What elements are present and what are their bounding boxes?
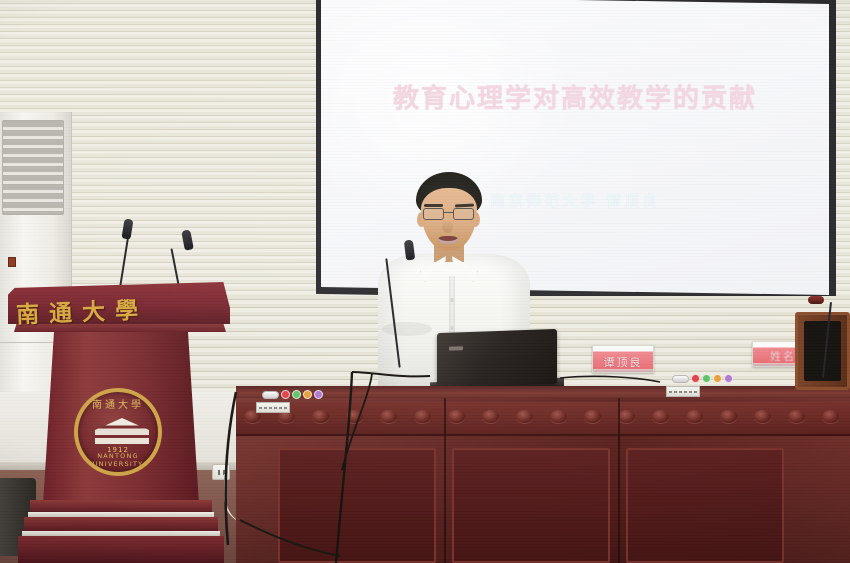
wooden-chair <box>795 312 850 390</box>
table-microphone-right-head <box>808 296 824 304</box>
cable-bundle <box>0 0 850 563</box>
photo-scene: 教育心理学对高效教学的贡献 南京师范大学 谭顶良 南通大學 南通大學 1912 … <box>0 0 850 563</box>
